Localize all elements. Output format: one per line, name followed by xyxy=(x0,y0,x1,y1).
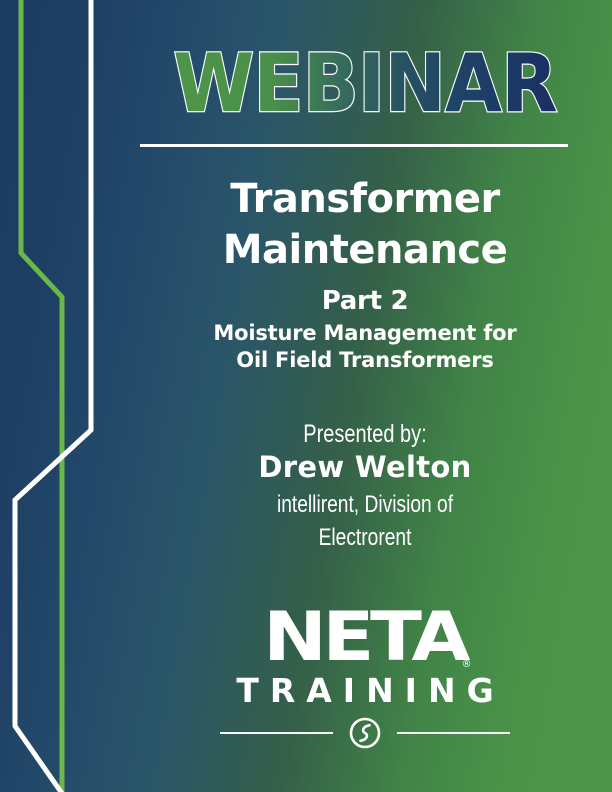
presenter-organization: intellirent, Division of Electrorent xyxy=(167,488,562,554)
presenter-org-line-2: Electrorent xyxy=(167,521,562,554)
white-accent-line xyxy=(15,0,91,792)
presenter-name: Drew Welton xyxy=(118,450,612,484)
slide-content: WEBINAR Transformer Maintenance Part 2 M… xyxy=(118,0,612,792)
green-accent-line xyxy=(21,0,62,792)
part-subtitle-line-1: Moisture Management for xyxy=(118,320,612,347)
part-number: Part 2 xyxy=(118,286,612,316)
neta-brand-label: NETA xyxy=(264,604,467,672)
neta-brand-wrap: NETA ® xyxy=(274,604,455,672)
webinar-wordmark-label: WEBINAR xyxy=(173,38,557,124)
logo-rule-right xyxy=(397,732,510,734)
part-subtitle: Moisture Management for Oil Field Transf… xyxy=(118,320,612,374)
title-line-2: Maintenance xyxy=(118,225,612,276)
swirl-circle-icon xyxy=(349,717,381,749)
title-line-1: Transformer xyxy=(118,174,612,225)
neta-training-logo: NETA ® TRAINING xyxy=(118,604,612,748)
logo-rule-left xyxy=(220,732,333,734)
webinar-title-slide: WEBINAR Transformer Maintenance Part 2 M… xyxy=(0,0,612,792)
header-divider xyxy=(140,144,568,147)
neta-training-label: TRAINING xyxy=(118,673,612,709)
presented-by-label: Presented by: xyxy=(167,420,562,449)
presenter-org-line-1: intellirent, Division of xyxy=(167,488,562,521)
part-subtitle-line-2: Oil Field Transformers xyxy=(118,347,612,374)
logo-rule-with-mark xyxy=(220,717,510,748)
webinar-wordmark-svg: WEBINAR xyxy=(146,38,584,124)
page-title: Transformer Maintenance xyxy=(118,174,612,276)
registered-trademark-icon: ® xyxy=(462,660,472,670)
webinar-wordmark: WEBINAR xyxy=(118,38,612,124)
